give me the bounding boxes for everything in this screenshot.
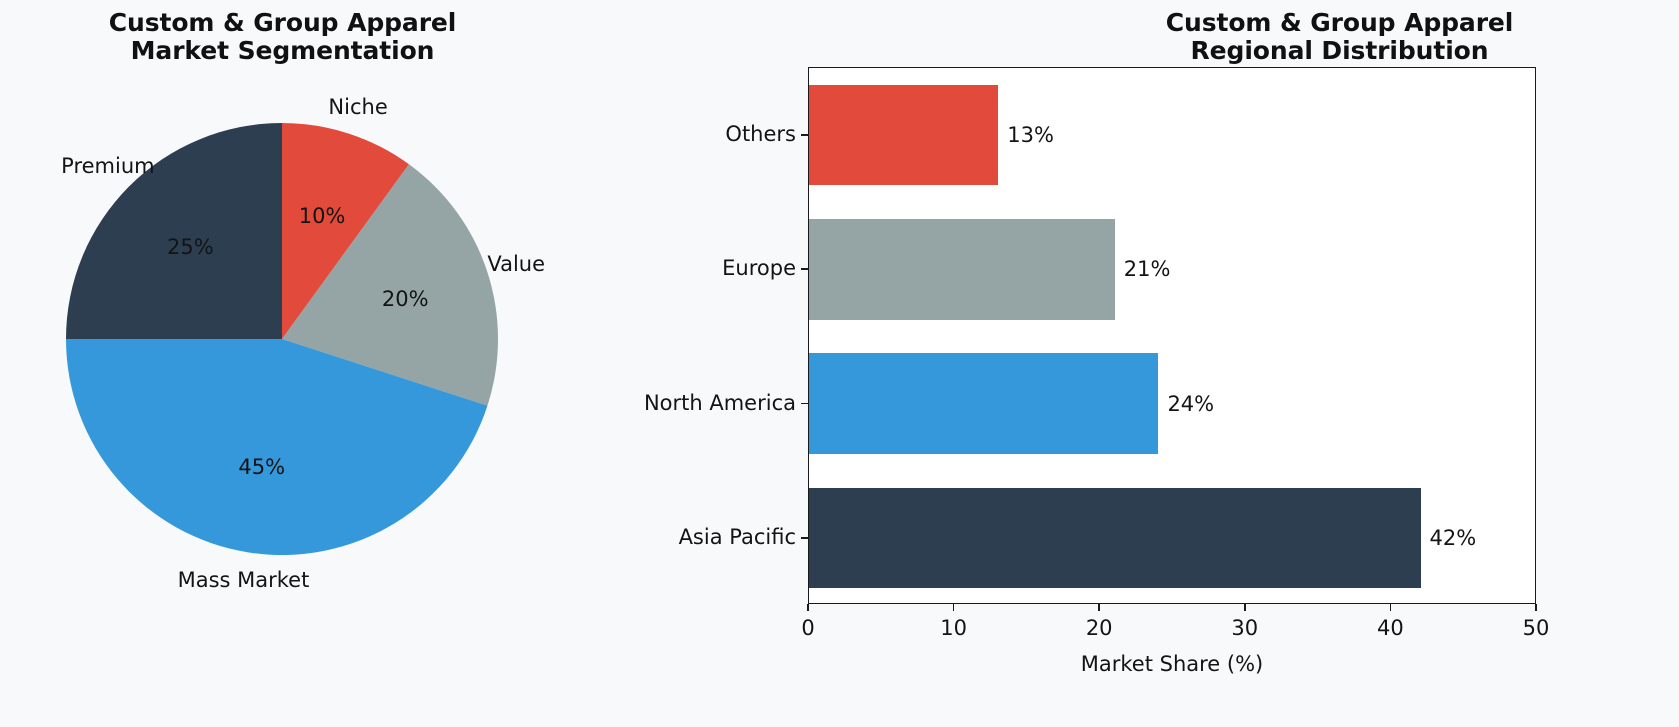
bar[interactable] (809, 353, 1158, 454)
x-axis-tick-label: 40 (1377, 616, 1404, 640)
pie-slice-label: Mass Market (178, 568, 310, 592)
x-axis-tick (1535, 604, 1537, 611)
x-axis-tick (953, 604, 955, 611)
y-axis-tick-label: Others (725, 122, 796, 146)
pie-slice-label: Premium (61, 154, 154, 178)
pie-slice-value: 45% (238, 455, 285, 479)
x-axis-tick-label: 20 (1086, 616, 1113, 640)
y-axis-tick (801, 134, 808, 136)
pie-slices-group (66, 123, 498, 555)
x-axis-tick-label: 10 (940, 616, 967, 640)
pie-chart-title: Custom & Group Apparel Market Segmentati… (0, 9, 565, 65)
bar-row: 21% (809, 219, 1537, 320)
bar-row: 42% (809, 488, 1537, 589)
pie-slice-value: 25% (167, 235, 214, 259)
pie-chart-panel: Custom & Group Apparel Market Segmentati… (0, 0, 800, 727)
bar[interactable] (809, 488, 1421, 589)
bar-value-label: 21% (1124, 257, 1171, 281)
bar[interactable] (809, 85, 998, 186)
x-axis-tick (807, 604, 809, 611)
x-axis-tick (1244, 604, 1246, 611)
x-axis-tick (1390, 604, 1392, 611)
bar-value-label: 13% (1007, 123, 1054, 147)
x-axis-tick-label: 50 (1523, 616, 1550, 640)
y-axis-tick (801, 403, 808, 405)
pie-slice-value: 10% (299, 204, 346, 228)
bar-chart-title: Custom & Group Apparel Regional Distribu… (800, 9, 1679, 65)
bar-row: 13% (809, 85, 1537, 186)
x-axis-title: Market Share (%) (808, 652, 1536, 676)
pie-slice-value: 20% (382, 287, 429, 311)
bar-value-label: 42% (1430, 526, 1477, 550)
y-axis-tick-label: Asia Pacific (679, 525, 796, 549)
y-axis-tick-label: North America (644, 391, 796, 415)
bar-chart-panel: Custom & Group Apparel Regional Distribu… (800, 0, 1679, 727)
bar-value-label: 24% (1167, 392, 1214, 416)
bar-chart-plot-area: 13%21%24%42% (808, 67, 1536, 604)
pie-slice-label: Value (487, 252, 545, 276)
bar[interactable] (809, 219, 1115, 320)
bar-row: 24% (809, 353, 1537, 454)
y-axis-tick (801, 268, 808, 270)
y-axis-tick-label: Europe (722, 256, 796, 280)
pie-slice-label: Niche (328, 95, 387, 119)
x-axis-tick-label: 0 (801, 616, 814, 640)
x-axis-tick (1098, 604, 1100, 611)
y-axis-tick (801, 537, 808, 539)
pie-chart-svg (66, 123, 498, 555)
x-axis-tick-label: 30 (1231, 616, 1258, 640)
figure-canvas: Custom & Group Apparel Market Segmentati… (0, 0, 1679, 727)
